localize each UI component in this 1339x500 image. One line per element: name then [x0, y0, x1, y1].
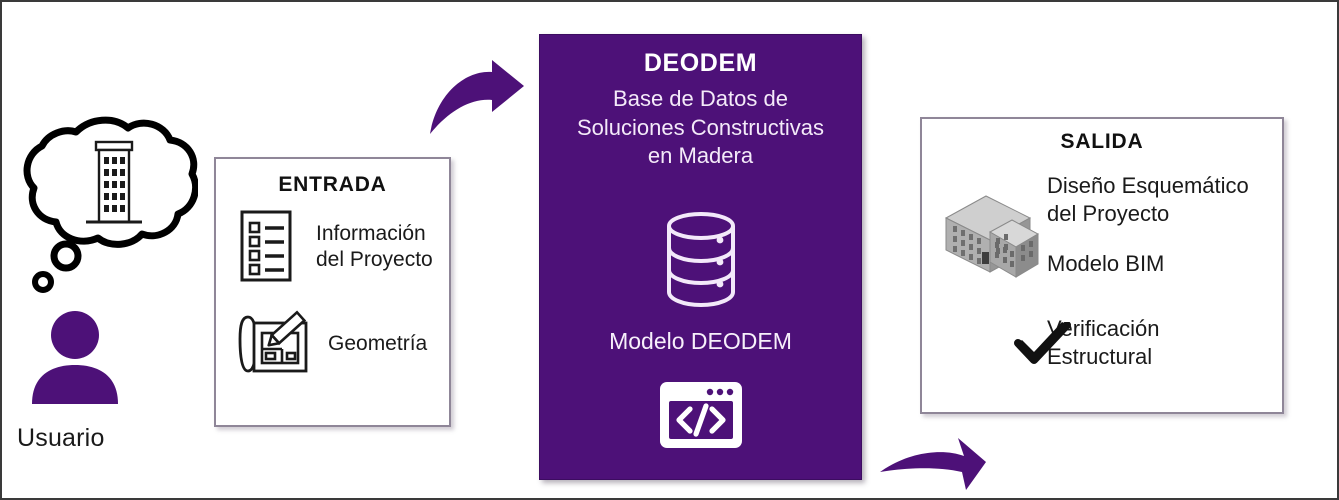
salida-title: SALIDA	[922, 130, 1282, 154]
check-icon-wrap	[1014, 322, 1072, 375]
code-window-icon	[658, 380, 744, 450]
entrada-item-label: Geometría	[328, 331, 427, 357]
database-cylinder-icon	[660, 211, 742, 307]
curved-arrow-right-icon	[426, 60, 526, 140]
building-in-thought-bubble-icon	[18, 114, 198, 314]
entrada-item-label: Información del Proyecto	[316, 221, 433, 272]
entrada-item-geometria: Geometría	[238, 309, 427, 379]
deodem-title: DEODEM	[540, 49, 861, 78]
curved-arrow-right-icon	[878, 432, 988, 494]
deodem-subtitle: Base de Datos de Soluciones Constructiva…	[540, 85, 861, 171]
code-icon-wrap	[540, 380, 861, 455]
deodem-model-label: Modelo DEODEM	[540, 328, 861, 355]
deodem-panel: DEODEM Base de Datos de Soluciones Const…	[539, 34, 862, 480]
blueprint-pencil-icon	[238, 309, 312, 379]
database-icon-wrap	[540, 211, 861, 312]
diagram-canvas: Usuario ENTRADA Información	[0, 0, 1339, 500]
user-avatar-icon	[30, 309, 120, 404]
usuario-label: Usuario	[17, 424, 105, 453]
salida-panel: SALIDA	[920, 117, 1284, 414]
checklist-document-icon	[238, 209, 300, 285]
salida-item-label: Diseño Esquemático del Proyecto	[1047, 172, 1249, 227]
entrada-title: ENTRADA	[216, 173, 449, 197]
user-group: Usuario	[10, 114, 210, 454]
entrada-item-informacion: Información del Proyecto	[238, 209, 433, 285]
salida-item-label: Modelo BIM	[1047, 250, 1164, 278]
checkmark-icon	[1014, 322, 1072, 370]
isometric-building-3d-icon	[940, 176, 1044, 291]
entrada-panel: ENTRADA Información del Proyecto	[214, 157, 451, 427]
